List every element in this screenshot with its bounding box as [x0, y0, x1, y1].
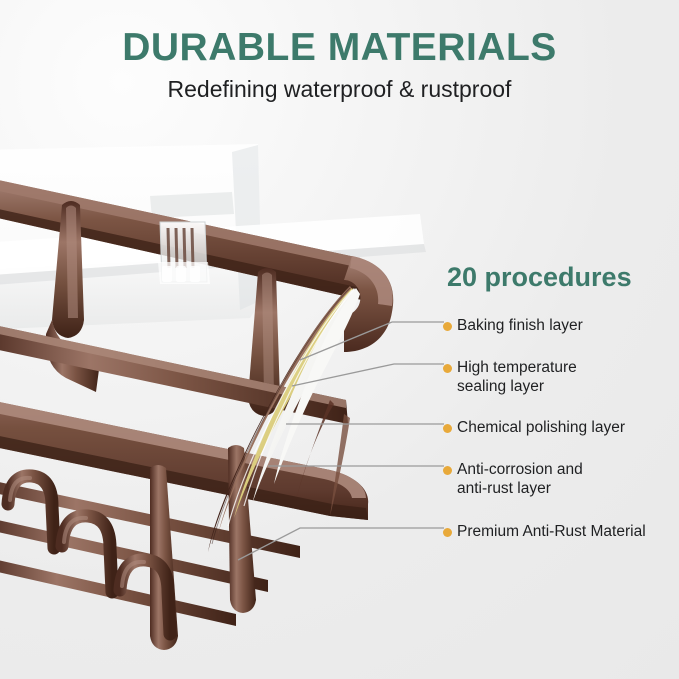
callout-label: Baking finish layer	[457, 316, 583, 335]
page-title: DURABLE MATERIALS	[0, 26, 679, 70]
callout-chemical-polishing-layer: Chemical polishing layer	[447, 418, 625, 437]
bullet-dot-icon	[443, 466, 452, 475]
callout-label: Chemical polishing layer	[457, 418, 625, 437]
transparent-clip-bracket	[158, 222, 210, 284]
procedures-heading: 20 procedures	[447, 262, 632, 293]
bullet-dot-icon	[443, 364, 452, 373]
callout-label: Anti-corrosion and anti-rust layer	[457, 460, 583, 498]
callout-high-temperature-sealing-layer: High temperature sealing layer	[447, 358, 577, 396]
leader-line-5	[238, 528, 444, 560]
callout-baking-finish-layer: Baking finish layer	[447, 316, 583, 335]
callout-premium-anti-rust-material: Premium Anti-Rust Material	[447, 522, 646, 541]
callout-label: High temperature sealing layer	[457, 358, 577, 396]
page-subtitle: Redefining waterproof & rustproof	[0, 76, 679, 103]
bullet-dot-icon	[443, 528, 452, 537]
callout-anti-corrosion-layer: Anti-corrosion and anti-rust layer	[447, 460, 583, 498]
product-infographic: DURABLE MATERIALS Redefining waterproof …	[0, 0, 679, 679]
bullet-dot-icon	[443, 424, 452, 433]
bullet-dot-icon	[443, 322, 452, 331]
callout-label: Premium Anti-Rust Material	[457, 522, 646, 541]
